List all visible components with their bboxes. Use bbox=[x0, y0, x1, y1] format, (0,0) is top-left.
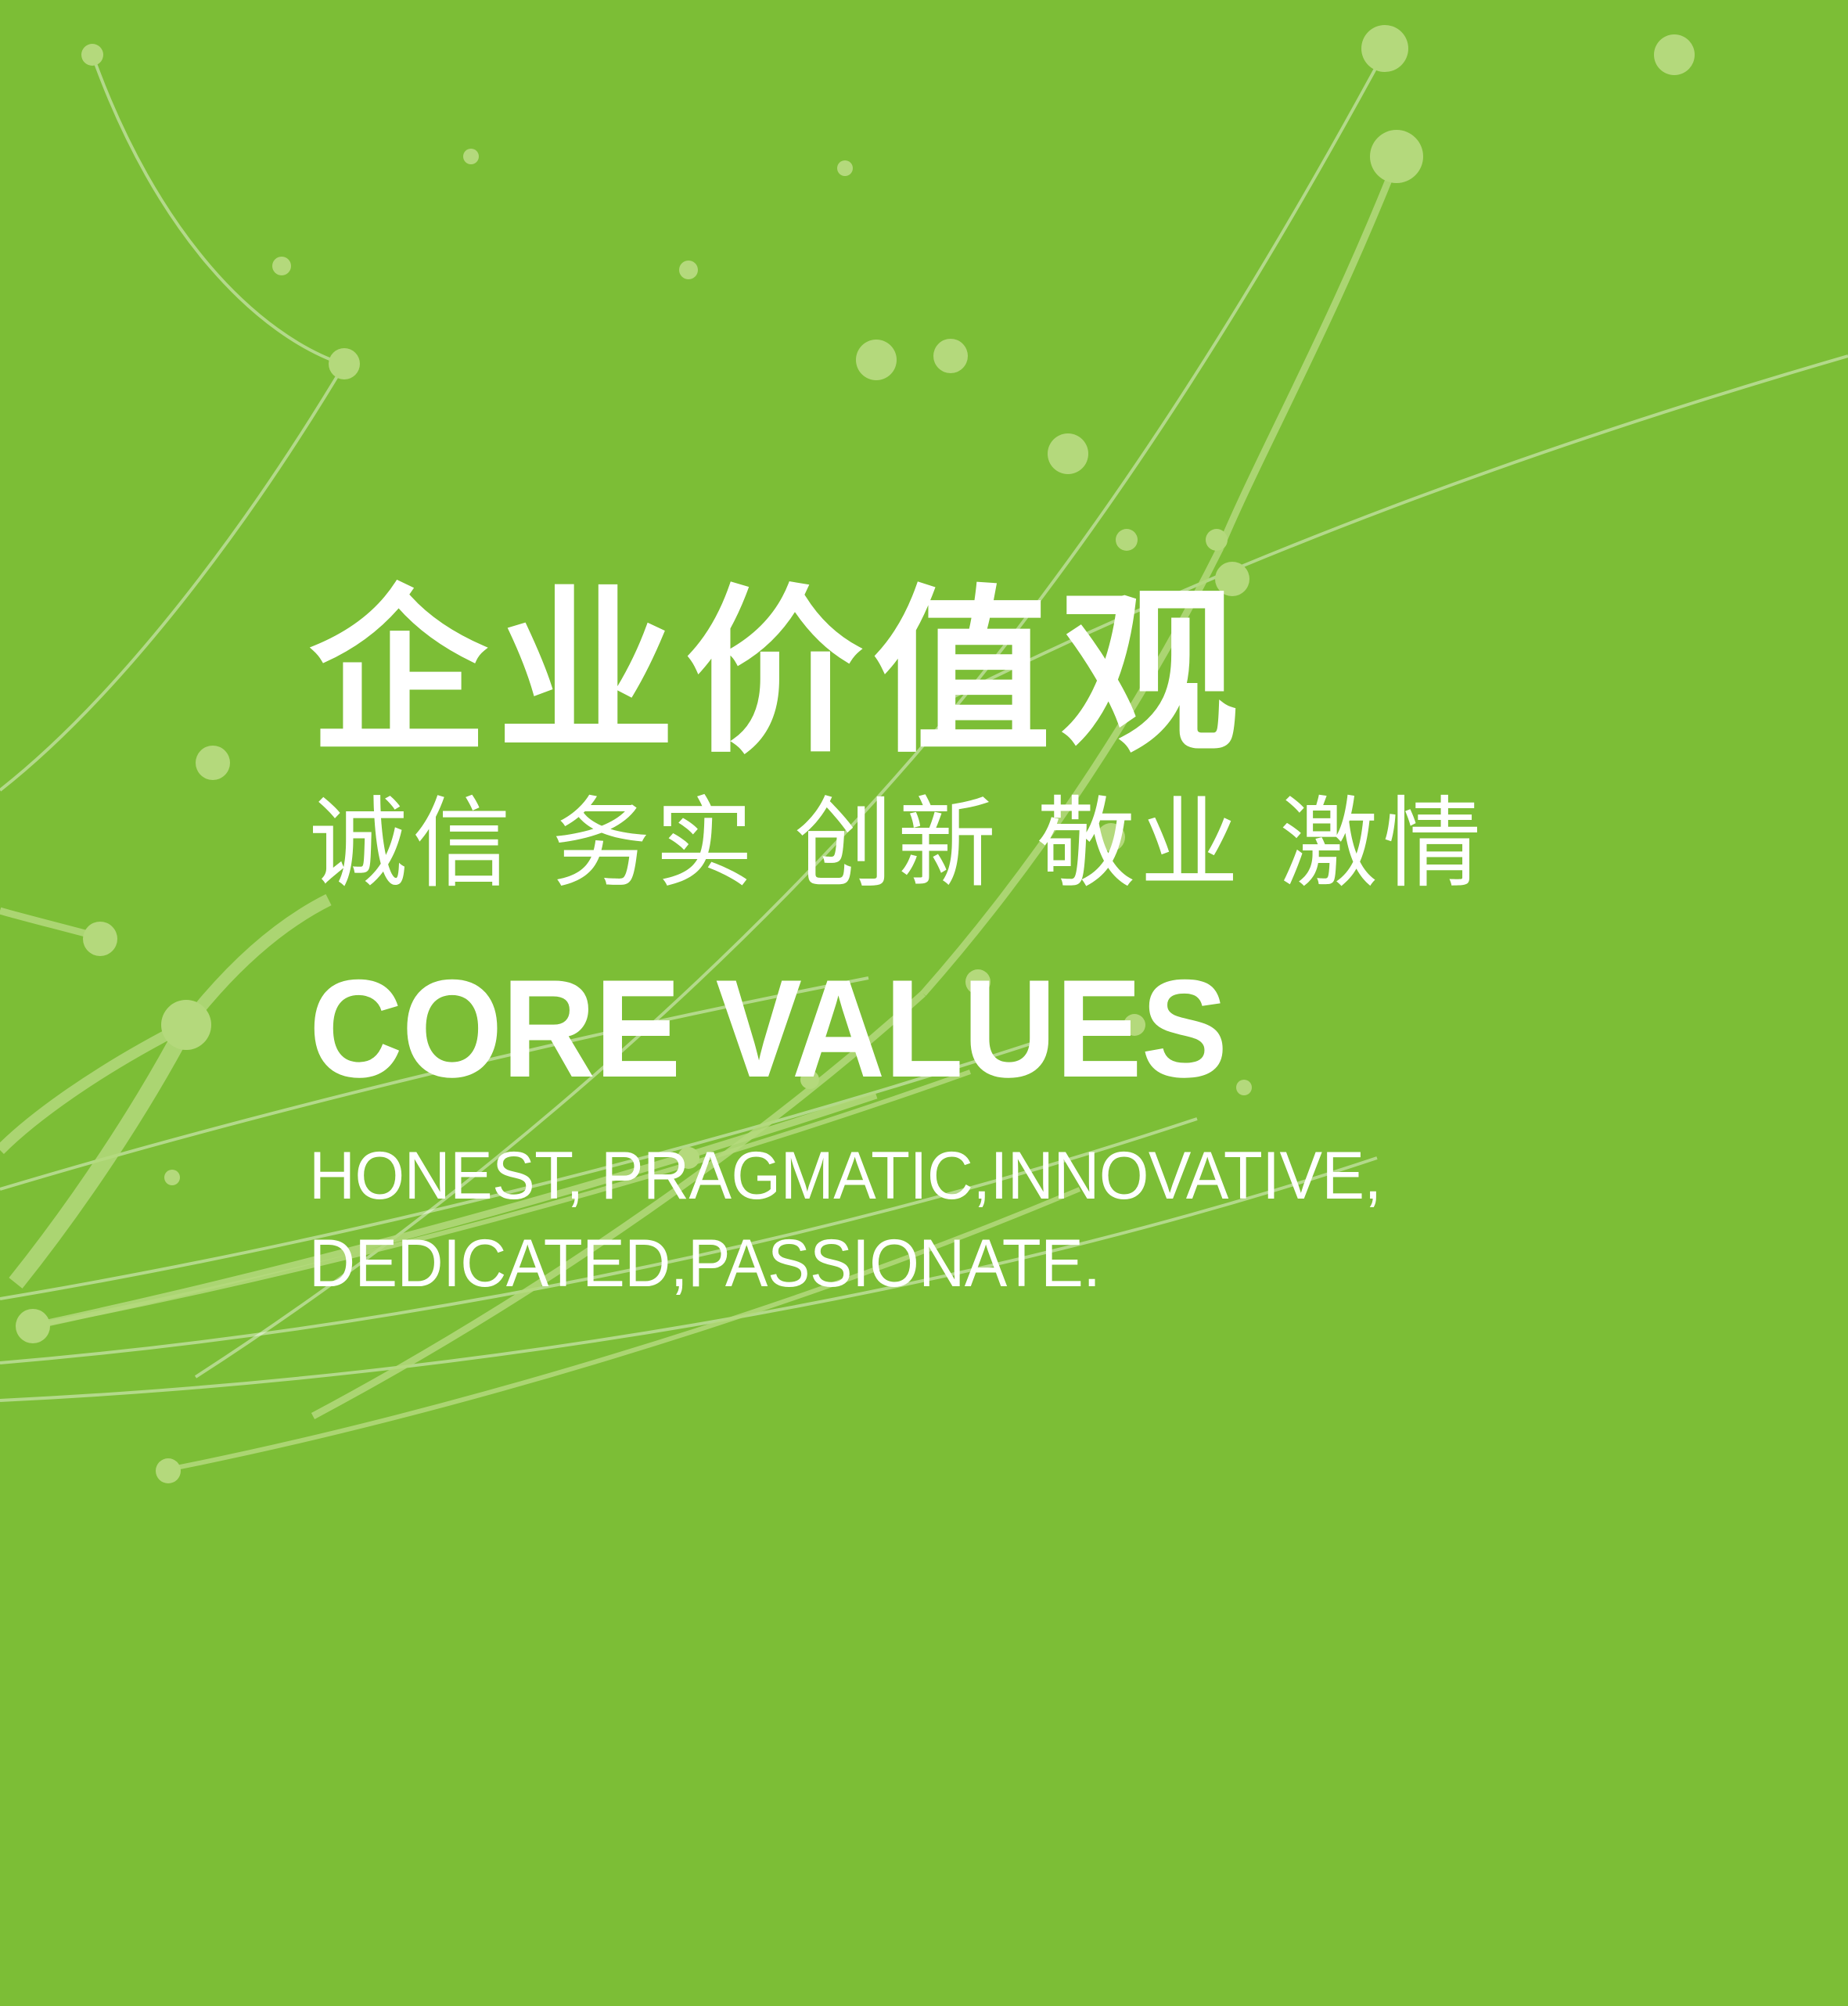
core-values-poster: 企业价值观 诚信 务实 创新 敬业 激情 CORE VALUES HONEST,… bbox=[0, 0, 1848, 2006]
body-text-line-2: DEDICATED,PASSIONATE. bbox=[309, 1220, 1647, 1308]
body-text-line-1: HONEST, PRAGMATIC,INNOVATIVE, bbox=[309, 1133, 1647, 1220]
body-text-english: HONEST, PRAGMATIC,INNOVATIVE, DEDICATED,… bbox=[309, 1133, 1647, 1308]
page-title-chinese: 企业价值观 bbox=[309, 581, 1717, 766]
page-title-english: CORE VALUES bbox=[309, 959, 1619, 1098]
subtitle-chinese: 诚信 务实 创新 敬业 激情 bbox=[309, 785, 1717, 903]
poster-content: 企业价值观 诚信 务实 创新 敬业 激情 CORE VALUES HONEST,… bbox=[309, 581, 1717, 1308]
